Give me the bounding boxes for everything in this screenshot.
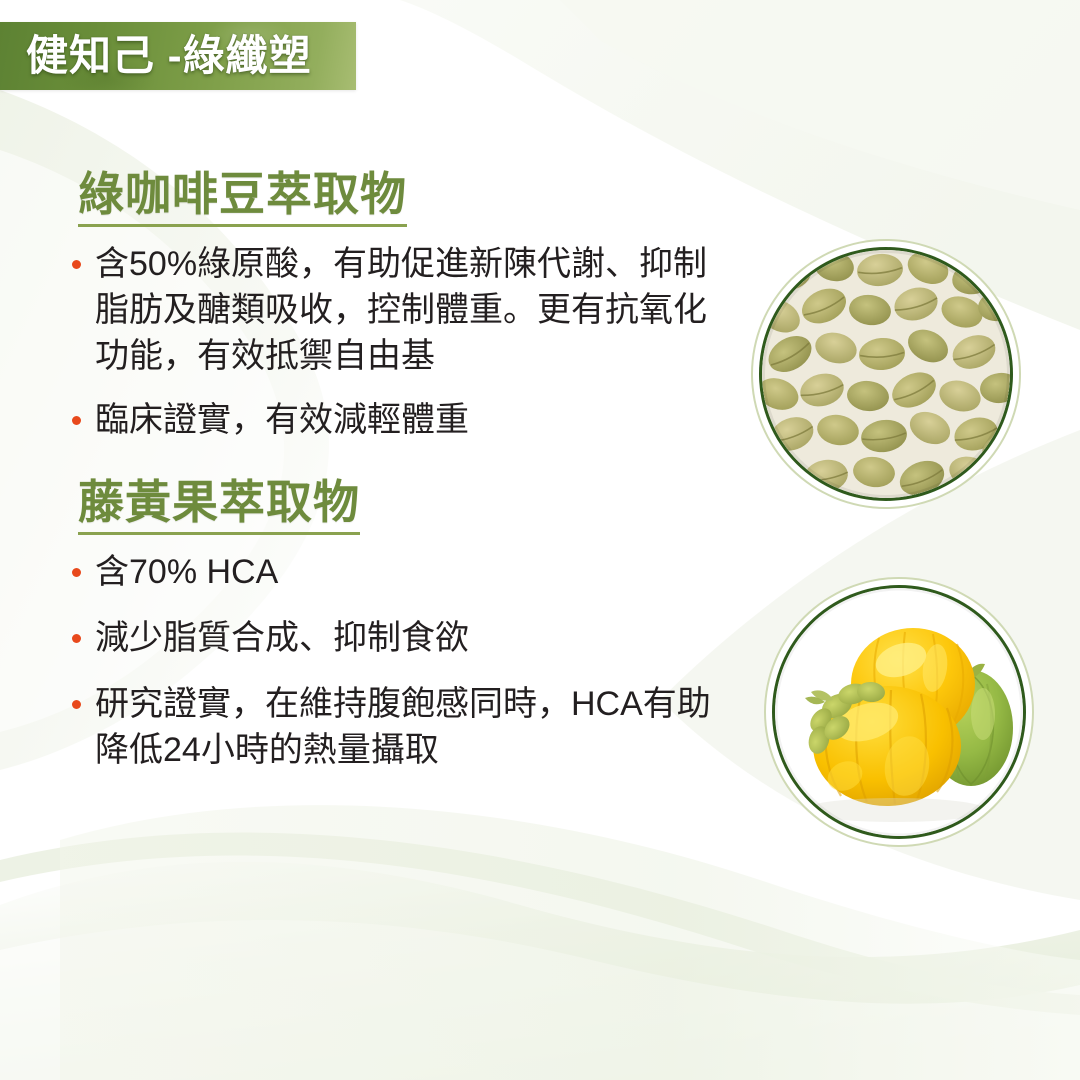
list-item: 含50%綠原酸，有助促進新陳代謝、抑制脂肪及醣類吸收，控制體重。更有抗氧化功能，… <box>72 242 732 380</box>
photo-green-coffee-beans <box>762 250 1010 498</box>
list-item: 減少脂質合成、抑制食欲 <box>72 616 737 662</box>
section-heading-2: 藤黃果萃取物 <box>78 478 360 535</box>
list-item: 含70% HCA <box>72 550 737 596</box>
bullet-text: 含70% HCA <box>95 550 278 596</box>
list-item: 研究證實，在維持腹飽感同時，HCA有助降低24小時的熱量攝取 <box>72 682 737 774</box>
section-heading-1: 綠咖啡豆萃取物 <box>78 170 407 227</box>
bullet-text: 臨床證實，有效減輕體重 <box>95 398 469 444</box>
bullet-text: 研究證實，在維持腹飽感同時，HCA有助降低24小時的熱量攝取 <box>95 682 737 774</box>
bullet-text: 含50%綠原酸，有助促進新陳代謝、抑制脂肪及醣類吸收，控制體重。更有抗氧化功能，… <box>95 242 732 380</box>
section-heading-1-text: 綠咖啡豆萃取物 <box>78 168 407 220</box>
heading-underline-1 <box>78 224 407 227</box>
bullet-list-2: 含70% HCA 減少脂質合成、抑制食欲 研究證實，在維持腹飽感同時，HCA有助… <box>72 550 737 788</box>
bullet-dot-icon <box>72 568 81 577</box>
bullet-dot-icon <box>72 634 81 643</box>
bullet-text: 減少脂質合成、抑制食欲 <box>95 616 469 662</box>
bullet-list-1: 含50%綠原酸，有助促進新陳代謝、抑制脂肪及醣類吸收，控制體重。更有抗氧化功能，… <box>72 242 732 458</box>
bullet-dot-icon <box>72 416 81 425</box>
bullet-dot-icon <box>72 700 81 709</box>
banner-title: 健知己 -綠纖塑 <box>26 35 312 77</box>
section-heading-2-text: 藤黃果萃取物 <box>78 476 360 528</box>
heading-underline-2 <box>78 532 360 535</box>
photo-garcinia-cambogia <box>775 588 1023 836</box>
list-item: 臨床證實，有效減輕體重 <box>72 398 732 444</box>
photo-green-coffee-beans-image <box>762 250 1010 498</box>
photo-garcinia-cambogia-image <box>775 588 1023 836</box>
promo-slide: 健知己 -綠纖塑 綠咖啡豆萃取物 含50%綠原酸，有助促進新陳代謝、抑制脂肪及醣… <box>0 0 1080 1080</box>
bullet-dot-icon <box>72 260 81 269</box>
